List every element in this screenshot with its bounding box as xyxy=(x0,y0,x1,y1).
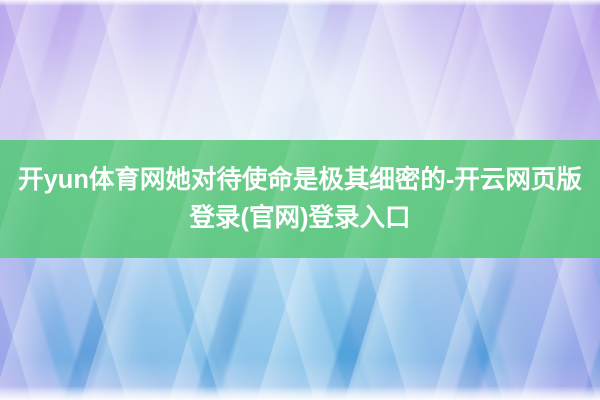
headline-line-1: 开yun体育网她对待使命是极其细密的-开云网页版 xyxy=(18,161,582,199)
headline-band: 开yun体育网她对待使命是极其细密的-开云网页版 登录(官网)登录入口 xyxy=(0,140,600,258)
headline-line-2: 登录(官网)登录入口 xyxy=(190,199,411,237)
promo-banner: 开yun体育网她对待使命是极其细密的-开云网页版 登录(官网)登录入口 xyxy=(0,0,600,400)
